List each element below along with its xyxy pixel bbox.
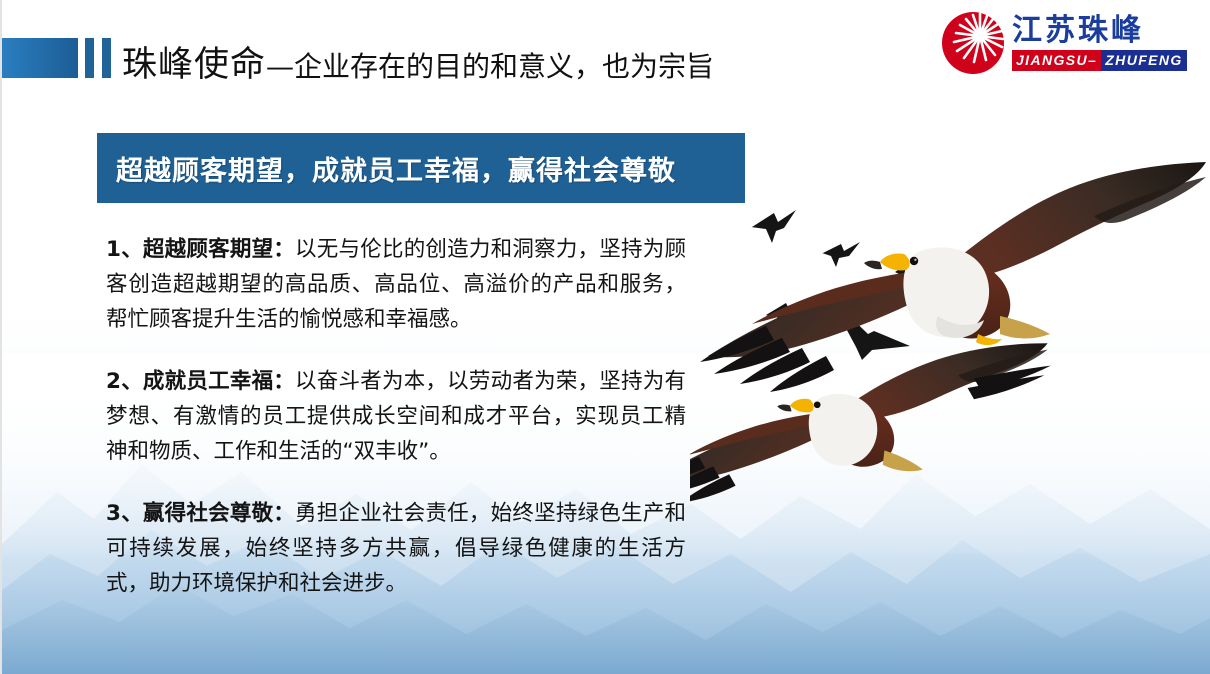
paragraph-1-number: 1、: [106, 237, 143, 262]
logo-english-left: JIANGSU–: [1012, 50, 1101, 71]
page-title-main: 珠峰使命: [122, 45, 266, 85]
logo-english-right: ZHUFENG: [1101, 50, 1186, 71]
mission-banner-text: 超越顾客期望，成就员工幸福，赢得社会尊敬: [116, 149, 676, 188]
accent-bar-1: [85, 38, 94, 78]
logo-text: 江苏珠峰 JIANGSU– ZHUFENG: [1012, 15, 1187, 71]
mission-banner: 超越顾客期望，成就员工幸福，赢得社会尊敬: [97, 133, 745, 203]
logo-chinese-name: 江苏珠峰: [1012, 15, 1187, 47]
slide: 珠峰使命—企业存在的目的和意义，也为宗旨: [0, 0, 1210, 674]
page-title-sub: —企业存在的目的和意义，也为宗旨: [266, 50, 714, 83]
mission-paragraph-3: 3、赢得社会尊敬：勇担企业社会责任，始终坚持绿色生产和可持续发展，始终坚持多方共…: [106, 496, 686, 601]
paragraph-1-lead: 超越顾客期望：: [143, 237, 295, 262]
mission-body: 1、超越顾客期望：以无与伦比的创造力和洞察力，坚持为顾客创造超越期望的高品质、高…: [106, 232, 686, 601]
paragraph-3-lead: 赢得社会尊敬：: [143, 501, 295, 526]
logo-english-bar: JIANGSU– ZHUFENG: [1012, 50, 1187, 71]
paragraph-2-lead: 成就员工幸福：: [143, 369, 295, 394]
paragraph-2-number: 2、: [106, 369, 143, 394]
accent-bar-2: [102, 38, 111, 78]
paragraph-3-number: 3、: [106, 501, 143, 526]
accent-block: [2, 38, 78, 78]
mission-paragraph-2: 2、成就员工幸福：以奋斗者为本，以劳动者为荣，坚持为有梦想、有激情的员工提供成长…: [106, 364, 686, 469]
page-title: 珠峰使命—企业存在的目的和意义，也为宗旨: [122, 36, 714, 87]
slide-header: 珠峰使命—企业存在的目的和意义，也为宗旨: [2, 0, 1210, 104]
sunburst-icon: [940, 10, 1006, 76]
company-logo: 江苏珠峰 JIANGSU– ZHUFENG: [940, 8, 1198, 78]
title-accent-bars: [2, 38, 111, 78]
mission-paragraph-1: 1、超越顾客期望：以无与伦比的创造力和洞察力，坚持为顾客创造超越期望的高品质、高…: [106, 232, 686, 337]
